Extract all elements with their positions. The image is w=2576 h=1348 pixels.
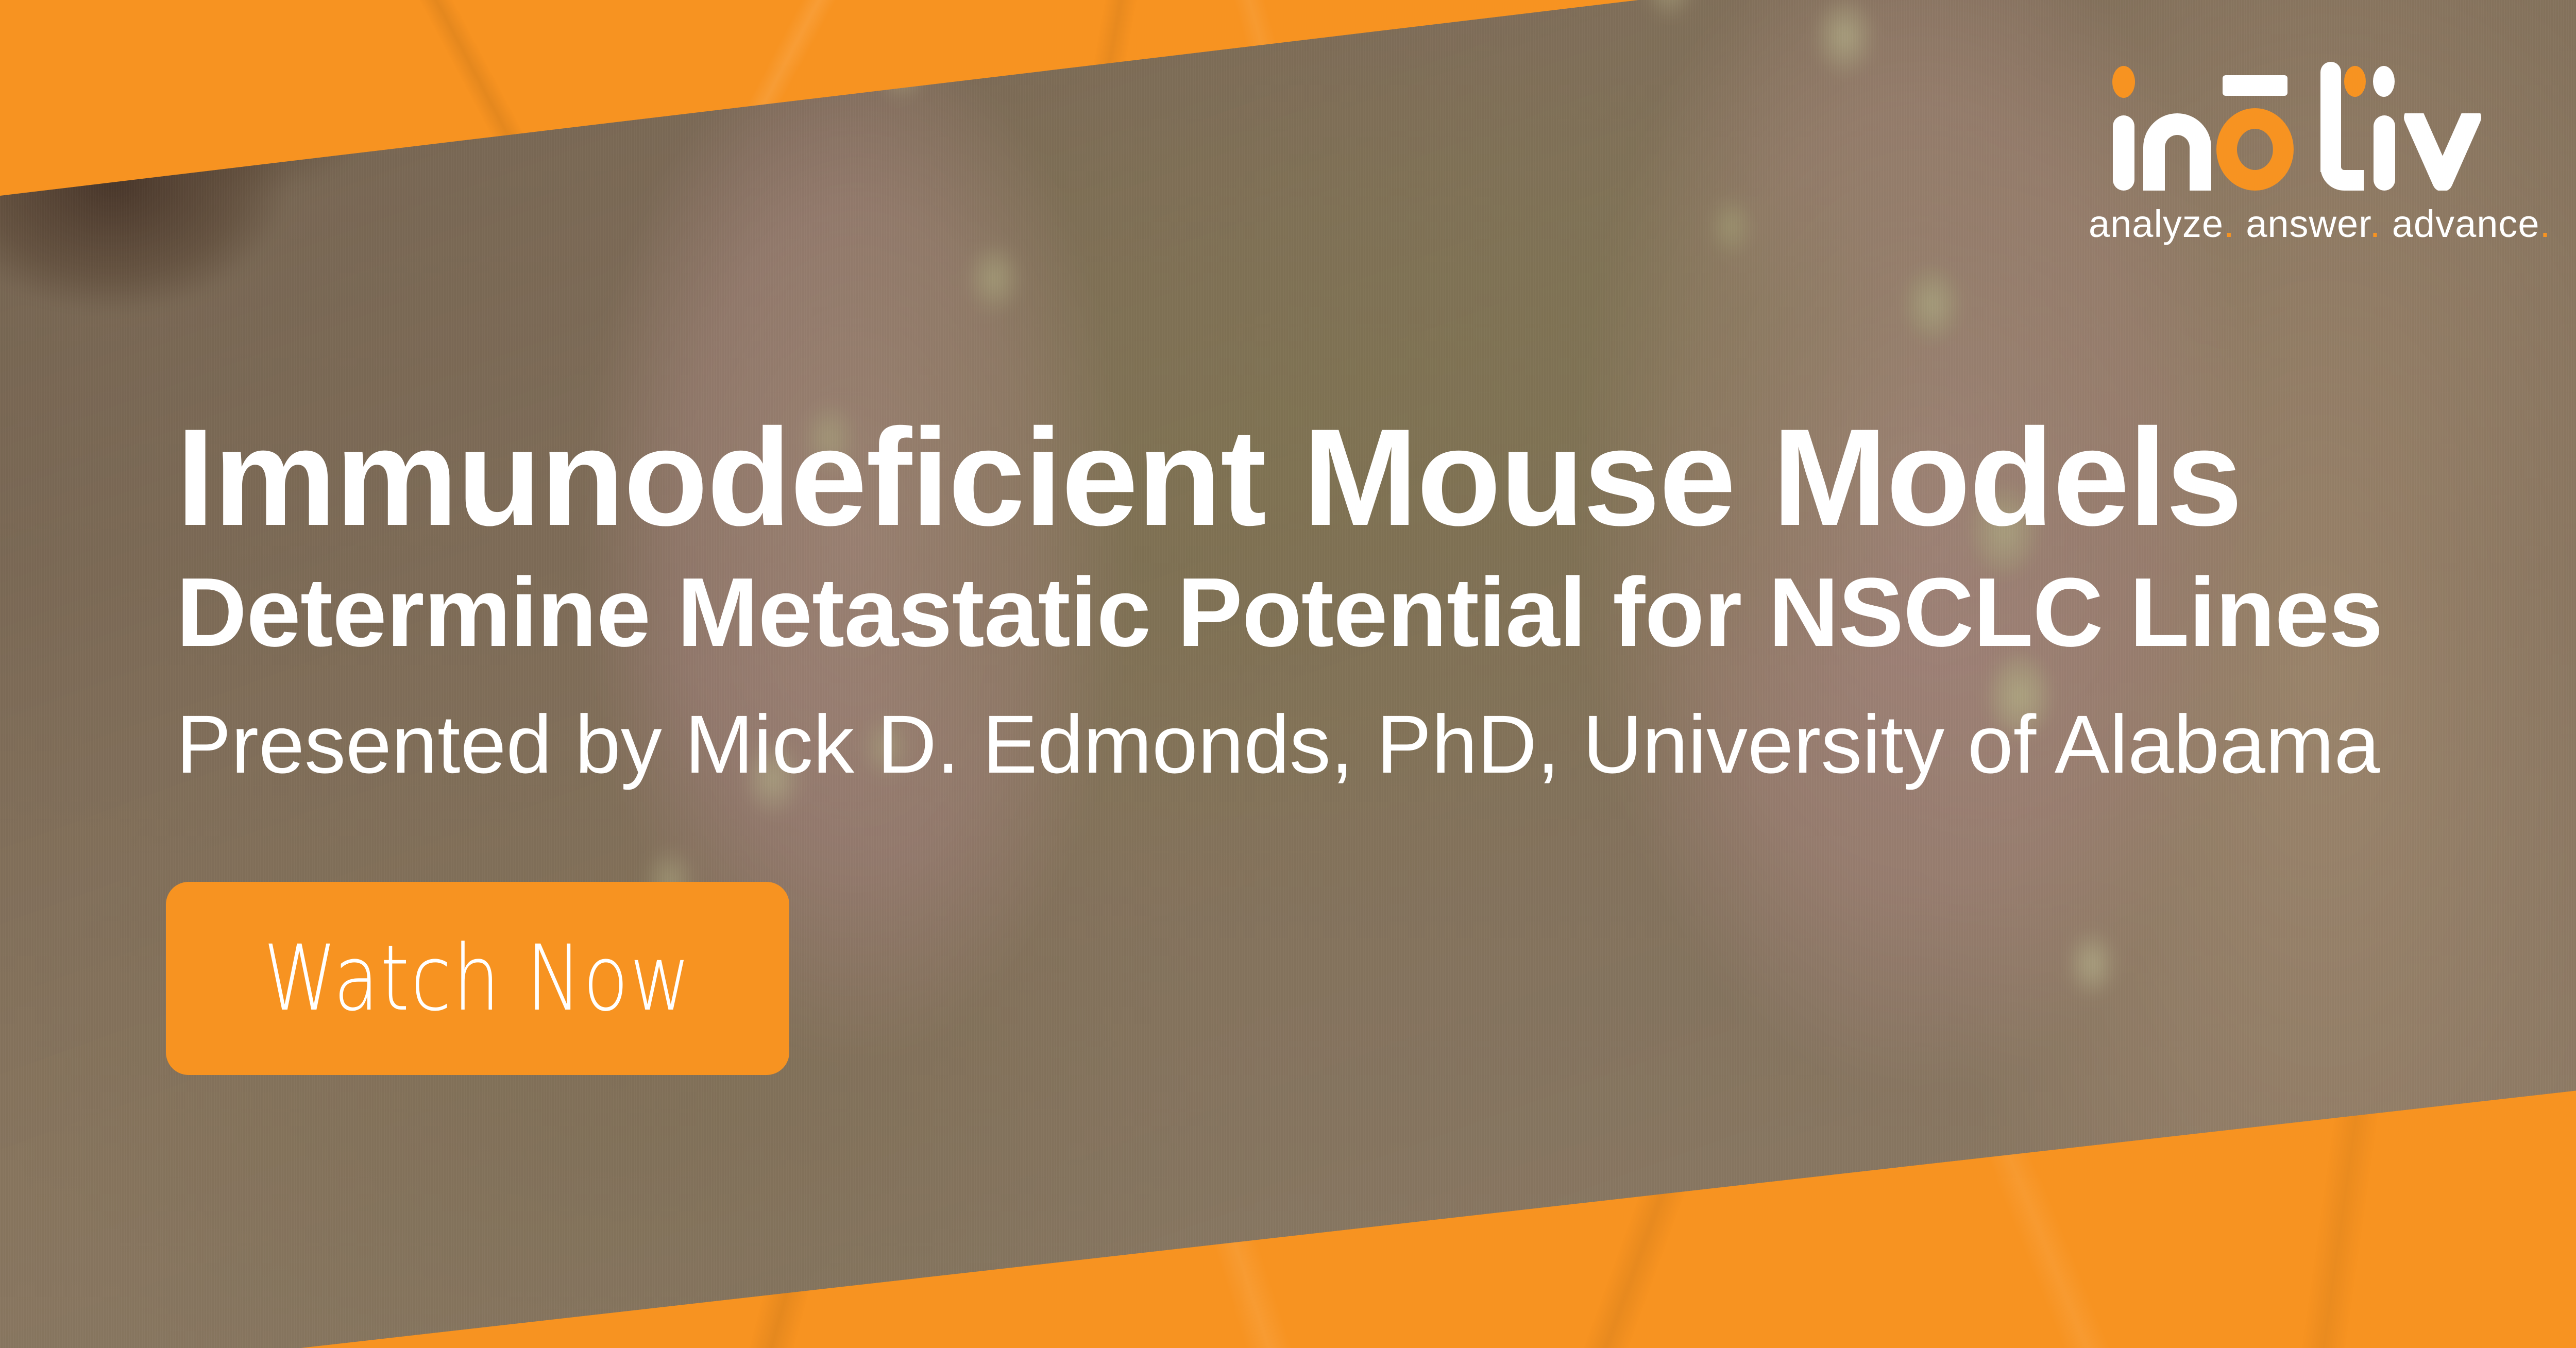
tagline-word-answer: answer	[2246, 202, 2369, 245]
watch-now-button[interactable]: Watch Now	[166, 882, 789, 1075]
webinar-promo-banner: analyze. answer. advance. Immunodeficien…	[0, 0, 2576, 1348]
logo-n-arch-icon	[2143, 113, 2211, 191]
logo-o-macron-icon	[2223, 75, 2287, 96]
page-subtitle: Determine Metastatic Potential for NSCLC…	[176, 560, 2185, 666]
logo-letter-i2-icon	[2364, 62, 2404, 191]
presenter-line: Presented by Mick D. Edmonds, PhD, Unive…	[176, 699, 2185, 790]
logo-letter-i-icon	[2103, 62, 2143, 191]
tagline-dot-icon: .	[2224, 202, 2235, 245]
logo-i-dot-icon	[2112, 66, 2135, 98]
brand-tagline: analyze. answer. advance.	[2089, 202, 2496, 246]
tagline-word-analyze: analyze	[2089, 202, 2224, 245]
logo-letter-v-icon	[2404, 62, 2481, 191]
logo-t-hook-icon	[2320, 139, 2364, 191]
logo-letter-t-icon	[2299, 62, 2364, 191]
page-title: Immunodeficient Mouse Models	[176, 407, 2185, 548]
logo-letter-n-icon	[2143, 62, 2211, 191]
logo-t-dot-icon	[2344, 66, 2366, 97]
hero-text-block: Immunodeficient Mouse Models Determine M…	[176, 407, 2185, 790]
logo-i2-stem-icon	[2374, 115, 2395, 191]
tagline-dot-icon: .	[2540, 202, 2551, 245]
tagline-dot-icon: .	[2370, 202, 2381, 245]
tagline-word-advance: advance	[2392, 202, 2540, 245]
logo-i-stem-icon	[2113, 115, 2134, 191]
logo-o-ring-icon	[2216, 108, 2294, 191]
watch-now-button-label: Watch Now	[263, 933, 692, 1024]
inotiv-logo[interactable]: analyze. answer. advance.	[2089, 62, 2496, 246]
inotiv-wordmark	[2089, 62, 2496, 191]
logo-i2-dot-icon	[2373, 66, 2395, 97]
logo-letter-o-icon	[2214, 62, 2296, 191]
